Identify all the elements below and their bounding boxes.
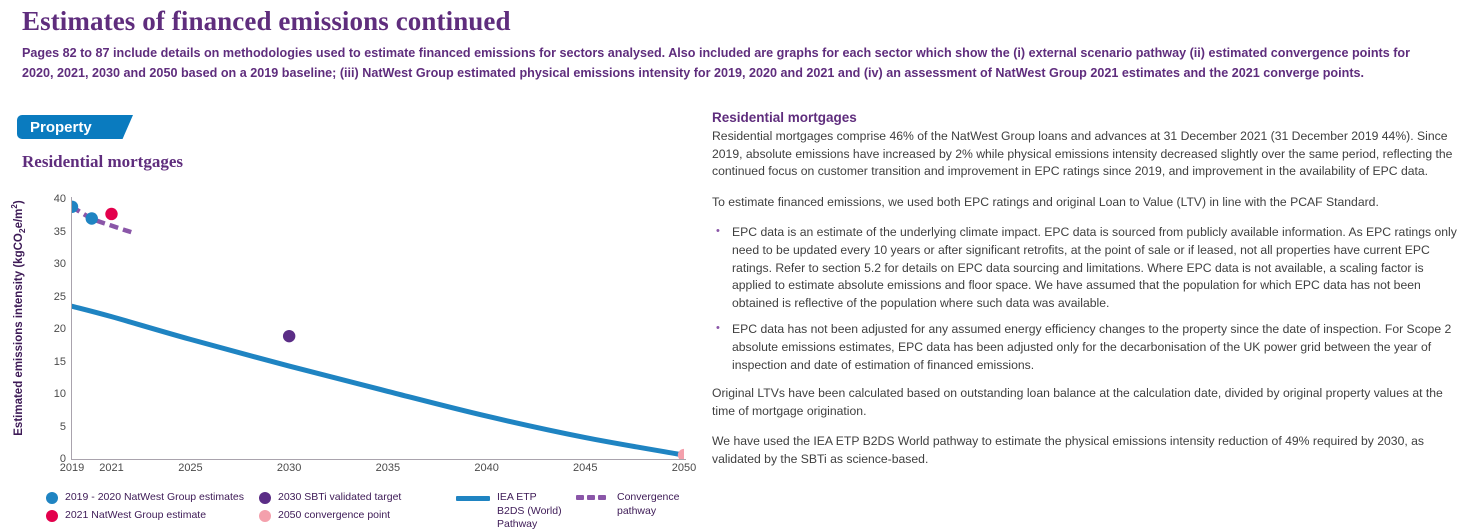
right-column: Residential mortgages Residential mortga… bbox=[712, 110, 1457, 482]
chart-x-tick-label: 2021 bbox=[99, 462, 123, 474]
legend-item-2[interactable]: 2030 SBTi validated target bbox=[259, 491, 401, 505]
chart-y-ticks: 0510152025303540 bbox=[22, 199, 66, 459]
legend-line-icon bbox=[456, 496, 490, 501]
chart-data-point bbox=[283, 330, 295, 342]
chart-data-point bbox=[678, 449, 684, 459]
chart-x-tick-label: 2040 bbox=[474, 462, 498, 474]
right-paragraph-2: To estimate financed emissions, we used … bbox=[712, 194, 1457, 212]
chart-x-tick-label: 2035 bbox=[376, 462, 400, 474]
chart-y-tick-label: 30 bbox=[26, 258, 66, 270]
legend-item-3[interactable]: 2050 convergence point bbox=[259, 509, 390, 523]
legend-label: 2030 SBTi validated target bbox=[278, 491, 401, 505]
right-paragraph-1: Residential mortgages comprise 46% of th… bbox=[712, 128, 1457, 181]
intro-paragraph: Pages 82 to 87 include details on method… bbox=[22, 44, 1442, 83]
chart-x-tick-label: 2019 bbox=[60, 462, 84, 474]
chart-y-tick-label: 15 bbox=[26, 356, 66, 368]
legend-dot-icon bbox=[259, 510, 271, 522]
right-heading: Residential mortgages bbox=[712, 110, 1457, 125]
right-paragraph-3: Original LTVs have been calculated based… bbox=[712, 385, 1457, 420]
chart-legend: 2019 - 2020 NatWest Group estimates 2021… bbox=[46, 491, 706, 529]
chart-x-tick-label: 2025 bbox=[178, 462, 202, 474]
chart-y-tick-label: 5 bbox=[26, 421, 66, 433]
legend-item-0[interactable]: 2019 - 2020 NatWest Group estimates bbox=[46, 491, 244, 505]
chart-y-tick-label: 20 bbox=[26, 323, 66, 335]
right-bullet-item: EPC data is an estimate of the underlyin… bbox=[712, 224, 1457, 312]
legend-label: 2021 NatWest Group estimate bbox=[65, 509, 206, 523]
chart-series-line-0 bbox=[72, 306, 684, 455]
right-bullet-list: EPC data is an estimate of the underlyin… bbox=[712, 224, 1457, 374]
chart-data-point bbox=[105, 208, 117, 220]
right-paragraph-4: We have used the IEA ETP B2DS World path… bbox=[712, 433, 1457, 468]
legend-dashed-line-icon bbox=[576, 495, 610, 500]
chart-series-dashed-1 bbox=[72, 207, 131, 232]
legend-label: 2019 - 2020 NatWest Group estimates bbox=[65, 491, 244, 505]
chart-y-tick-label: 35 bbox=[26, 226, 66, 238]
chart-x-axis-line bbox=[71, 459, 686, 460]
chart-y-tick-label: 10 bbox=[26, 388, 66, 400]
page-title: Estimates of financed emissions continue… bbox=[22, 6, 511, 37]
legend-item-4[interactable]: IEA ETP B2DS (World) Pathway bbox=[456, 491, 566, 532]
chart-plot-area bbox=[72, 199, 684, 459]
chart-x-tick-label: 2045 bbox=[573, 462, 597, 474]
chart-data-point bbox=[86, 212, 98, 224]
legend-item-5[interactable]: Convergence pathway bbox=[576, 491, 696, 518]
chart-x-tick-label: 2030 bbox=[277, 462, 301, 474]
legend-label: Convergence pathway bbox=[617, 491, 696, 518]
chart-title: Residential mortgages bbox=[22, 152, 183, 172]
legend-dot-icon bbox=[259, 492, 271, 504]
legend-dot-icon bbox=[46, 510, 58, 522]
property-badge: Property bbox=[17, 115, 133, 139]
right-bullet-item: EPC data has not been adjusted for any a… bbox=[712, 321, 1457, 374]
legend-label: 2050 convergence point bbox=[278, 509, 390, 523]
chart-x-tick-label: 2050 bbox=[672, 462, 696, 474]
legend-item-1[interactable]: 2021 NatWest Group estimate bbox=[46, 509, 206, 523]
chart-y-tick-label: 40 bbox=[26, 193, 66, 205]
page-root: Estimates of financed emissions continue… bbox=[0, 0, 1467, 530]
legend-label: IEA ETP B2DS (World) Pathway bbox=[497, 491, 566, 532]
property-badge-label: Property bbox=[30, 119, 92, 136]
legend-dot-icon bbox=[46, 492, 58, 504]
chart-y-tick-label: 25 bbox=[26, 291, 66, 303]
